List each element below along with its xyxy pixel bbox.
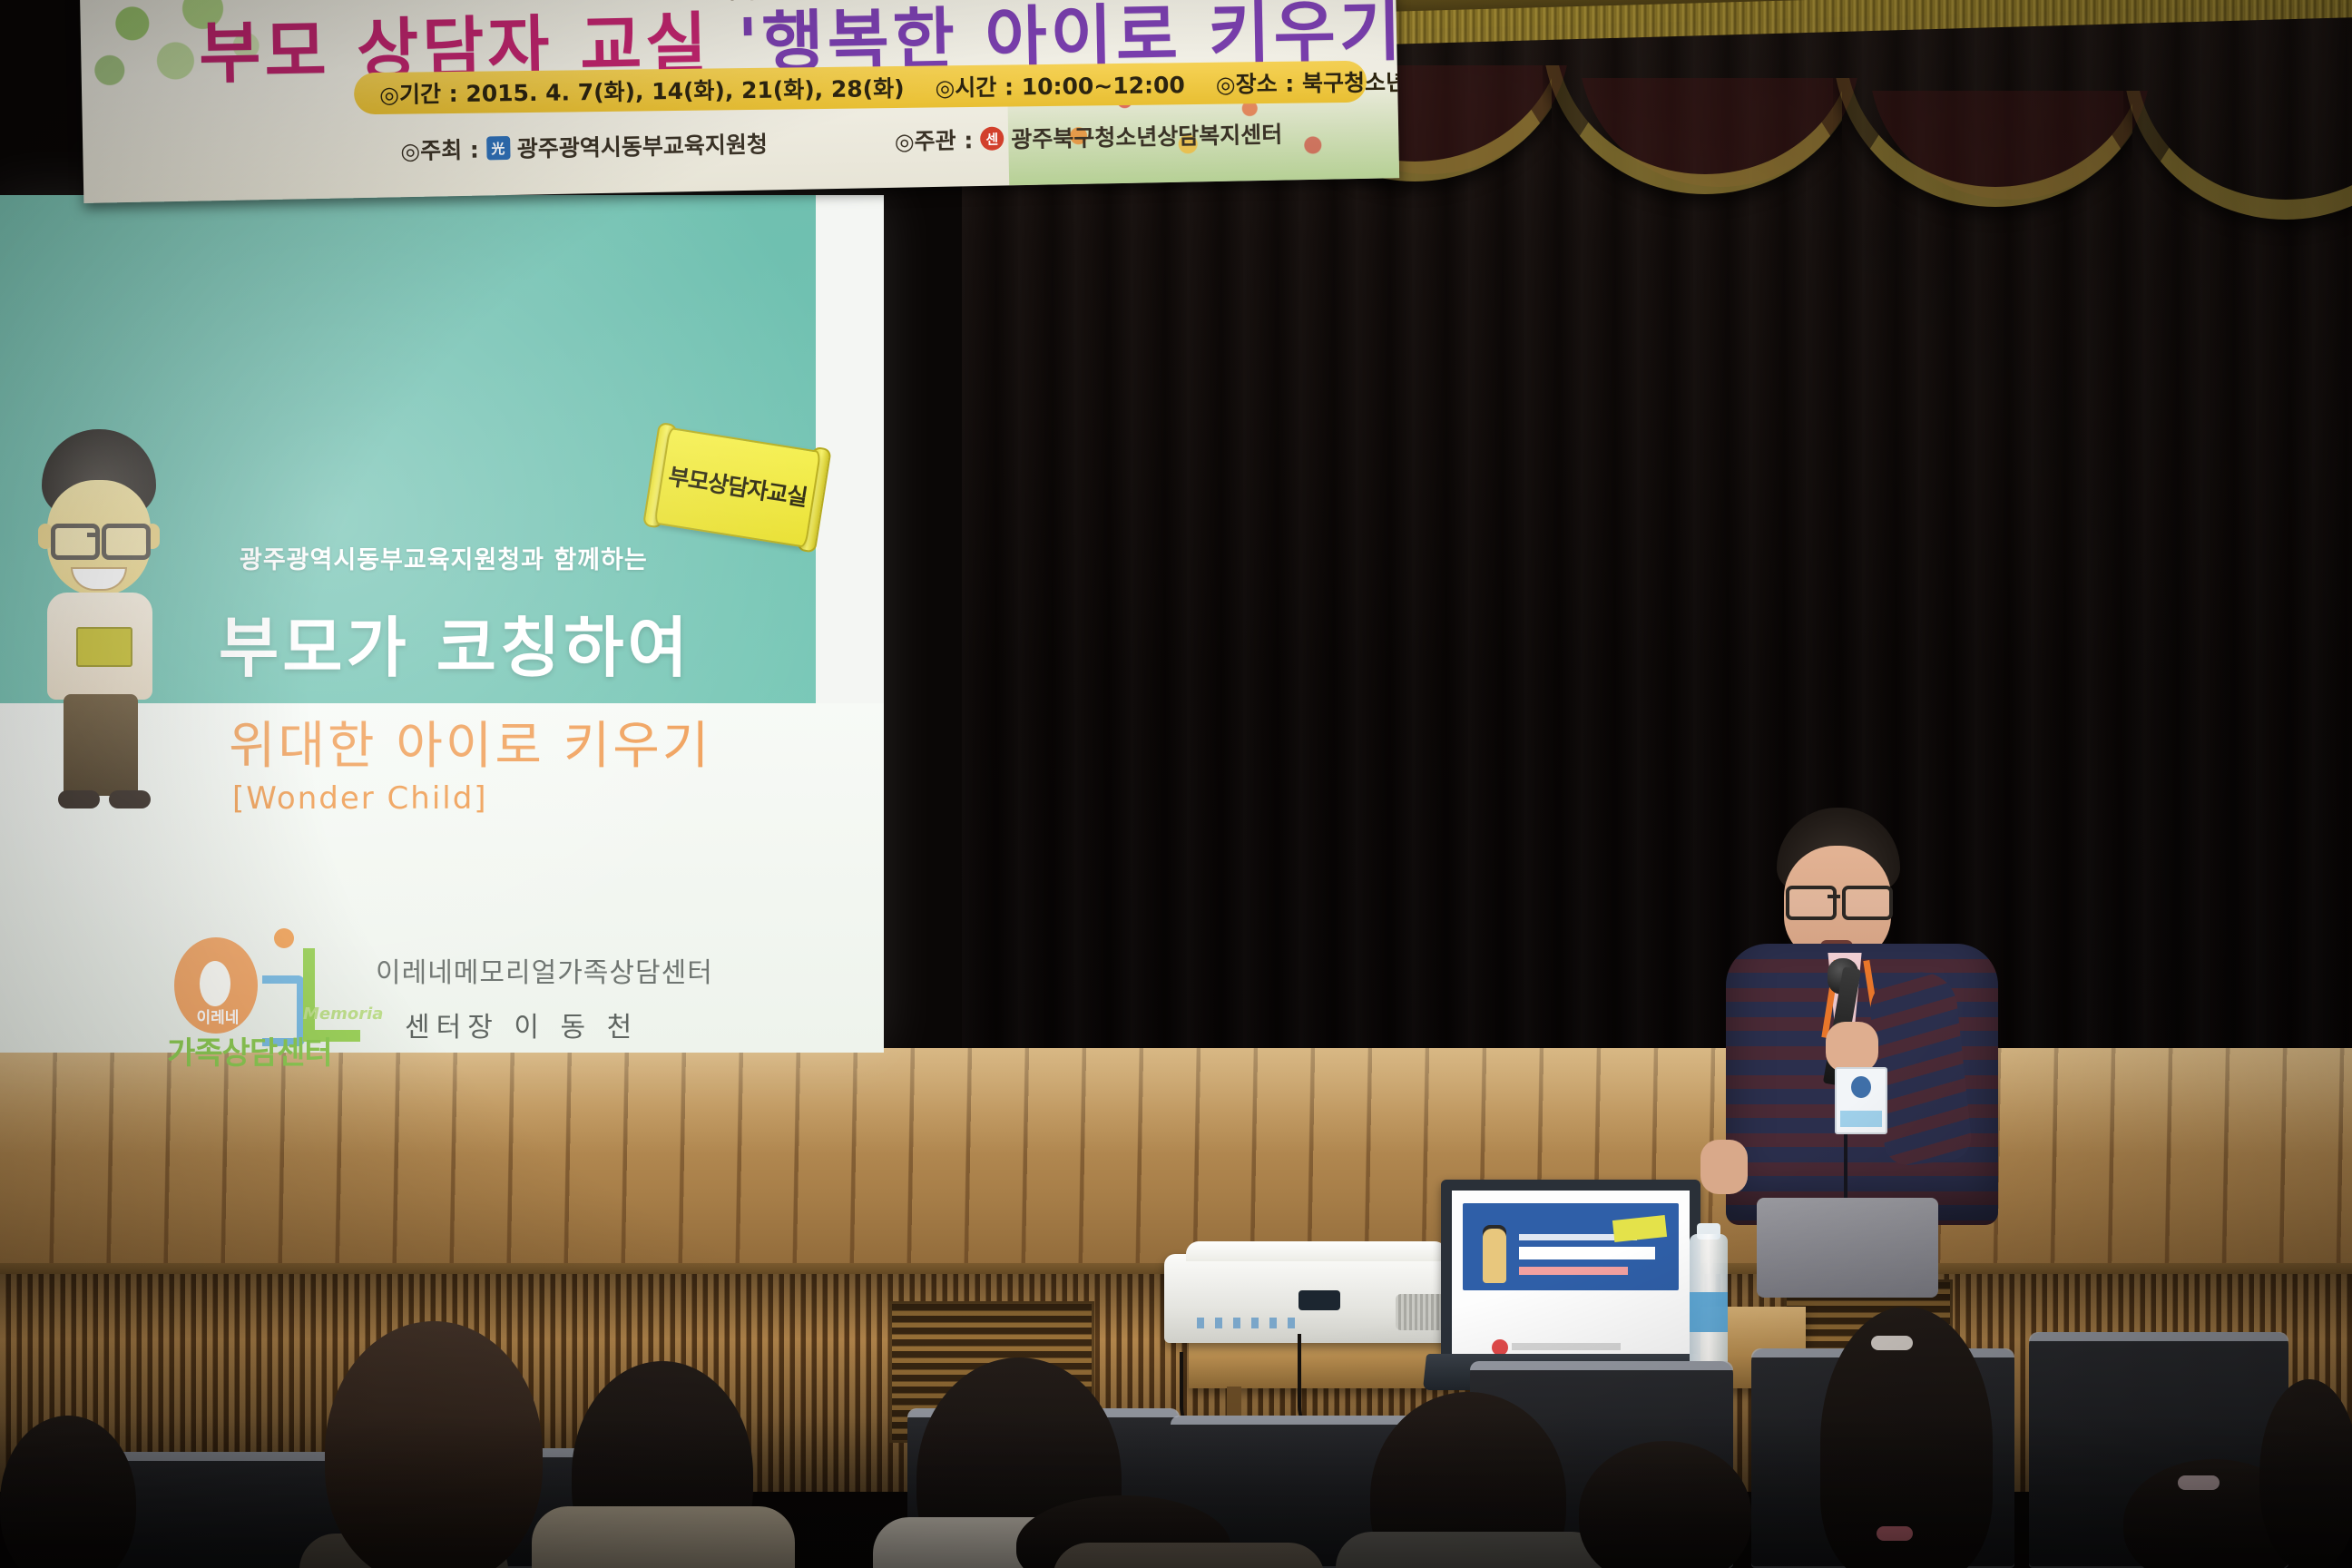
hair-tie <box>1877 1526 1913 1541</box>
logo-circle-text: 이레네 <box>185 1004 250 1027</box>
logo-dot-icon <box>274 928 294 948</box>
banner-host: ◎주최 : 光 광주광역시동부교육지원청 <box>400 126 768 166</box>
caricature-glasses-bridge <box>87 533 100 537</box>
audience-shoulders <box>1053 1543 1325 1568</box>
book-icon <box>76 627 132 667</box>
banner-operator-name: 광주북구청소년상담복지센터 <box>1011 117 1283 155</box>
event-banner: 기와 함께하는 학부모교육 부모 상담자 교실 '행복한 아이로 키우기' ◎기… <box>80 0 1399 203</box>
caricature-illustration <box>11 429 192 819</box>
slide-english-subtitle: [Wonder Child] <box>232 780 488 817</box>
curtain-swag <box>2123 91 2352 318</box>
projector-ports[interactable] <box>1197 1318 1297 1328</box>
projector <box>1164 1254 1468 1343</box>
education-office-icon: 光 <box>486 136 510 160</box>
caricature-legs <box>64 694 138 796</box>
projector-top <box>1186 1241 1447 1261</box>
caricature-glasses-icon <box>102 524 151 560</box>
logo-script-text: Memoria <box>303 1004 383 1024</box>
logo-word-mark: 가족상담센터 <box>167 1028 332 1073</box>
slide-subtitle: 위대한 아이로 키우기 <box>229 705 711 779</box>
logo-circle-hole <box>200 961 230 1006</box>
hair-tie <box>1871 1336 1913 1350</box>
laptop-slide-footer <box>1512 1343 1621 1350</box>
curtain-swag <box>1543 65 1842 292</box>
youth-center-icon: 센 <box>980 126 1004 150</box>
projection-screen: 부모상담자교실 광주광역시동부교육지원청과 함께하는 부모가 코칭하여 위대한 … <box>0 195 884 1053</box>
laptop-slide-line3 <box>1519 1267 1628 1275</box>
banner-host-role: ◎주최 : <box>400 132 479 167</box>
laptop-slide-tag <box>1612 1215 1667 1242</box>
laptop-slide-banner <box>1463 1203 1679 1290</box>
laptop-slide-line2 <box>1519 1247 1655 1259</box>
speaker-glasses-icon <box>1842 886 1893 920</box>
laptop-screen <box>1452 1191 1690 1368</box>
badge-photo <box>1851 1076 1871 1098</box>
center-logo: 이레네 Memoria 가족상담센터 <box>167 921 358 1057</box>
speaker-other-hand <box>1700 1140 1748 1194</box>
banner-host-name: 광주광역시동부교육지원청 <box>516 126 768 163</box>
audience-head <box>2259 1379 2352 1568</box>
banner-operator-role: ◎주관 : <box>894 122 973 157</box>
presenter-name-line: 센터장 이 동 천 <box>405 1004 638 1044</box>
seat-top-edge <box>1470 1361 1733 1370</box>
slide-title: 부모가 코칭하여 <box>219 594 691 690</box>
screenshot-root: 부모상담자교실 광주광역시동부교육지원청과 함께하는 부모가 코칭하여 위대한 … <box>0 0 2352 1568</box>
bottle-label <box>1690 1292 1728 1332</box>
caricature-glasses-icon <box>51 524 100 560</box>
badge-band <box>1840 1111 1882 1127</box>
caricature-shoe <box>58 790 100 808</box>
speaker-trousers <box>1757 1198 1938 1298</box>
caricature-shoe <box>109 790 151 808</box>
speaker-hand-holding-mic <box>1826 1022 1878 1073</box>
projector-lens-icon <box>1298 1290 1340 1310</box>
hair-tie <box>2178 1475 2220 1490</box>
center-name: 이레네메모리얼가족상담센터 <box>376 950 713 990</box>
laptop[interactable] <box>1441 1180 1700 1379</box>
audience-head <box>325 1321 543 1568</box>
id-badge <box>1835 1067 1887 1134</box>
speaker-glasses-icon <box>1786 886 1837 920</box>
audience-shoulders <box>532 1506 795 1568</box>
banner-info-time: ◎시간 : 10:00~12:00 <box>935 67 1185 103</box>
laptop-slide-figure <box>1483 1229 1506 1283</box>
speaker-glasses-bridge <box>1828 895 1840 898</box>
seat-top-edge <box>2029 1332 2288 1341</box>
banner-info-place: ◎장소 : 북구청소년수련관 나눔실(2층) <box>1216 63 1400 100</box>
slide-kicker: 광주광역시동부교육지원청과 함께하는 <box>240 540 648 575</box>
curtain-swag <box>1833 78 2132 305</box>
banner-info-period: ◎기간 : 2015. 4. 7(화), 14(화), 21(화), 28(화) <box>379 71 905 110</box>
speaker <box>1706 808 2033 1289</box>
audience-shoulders <box>1336 1532 1608 1568</box>
